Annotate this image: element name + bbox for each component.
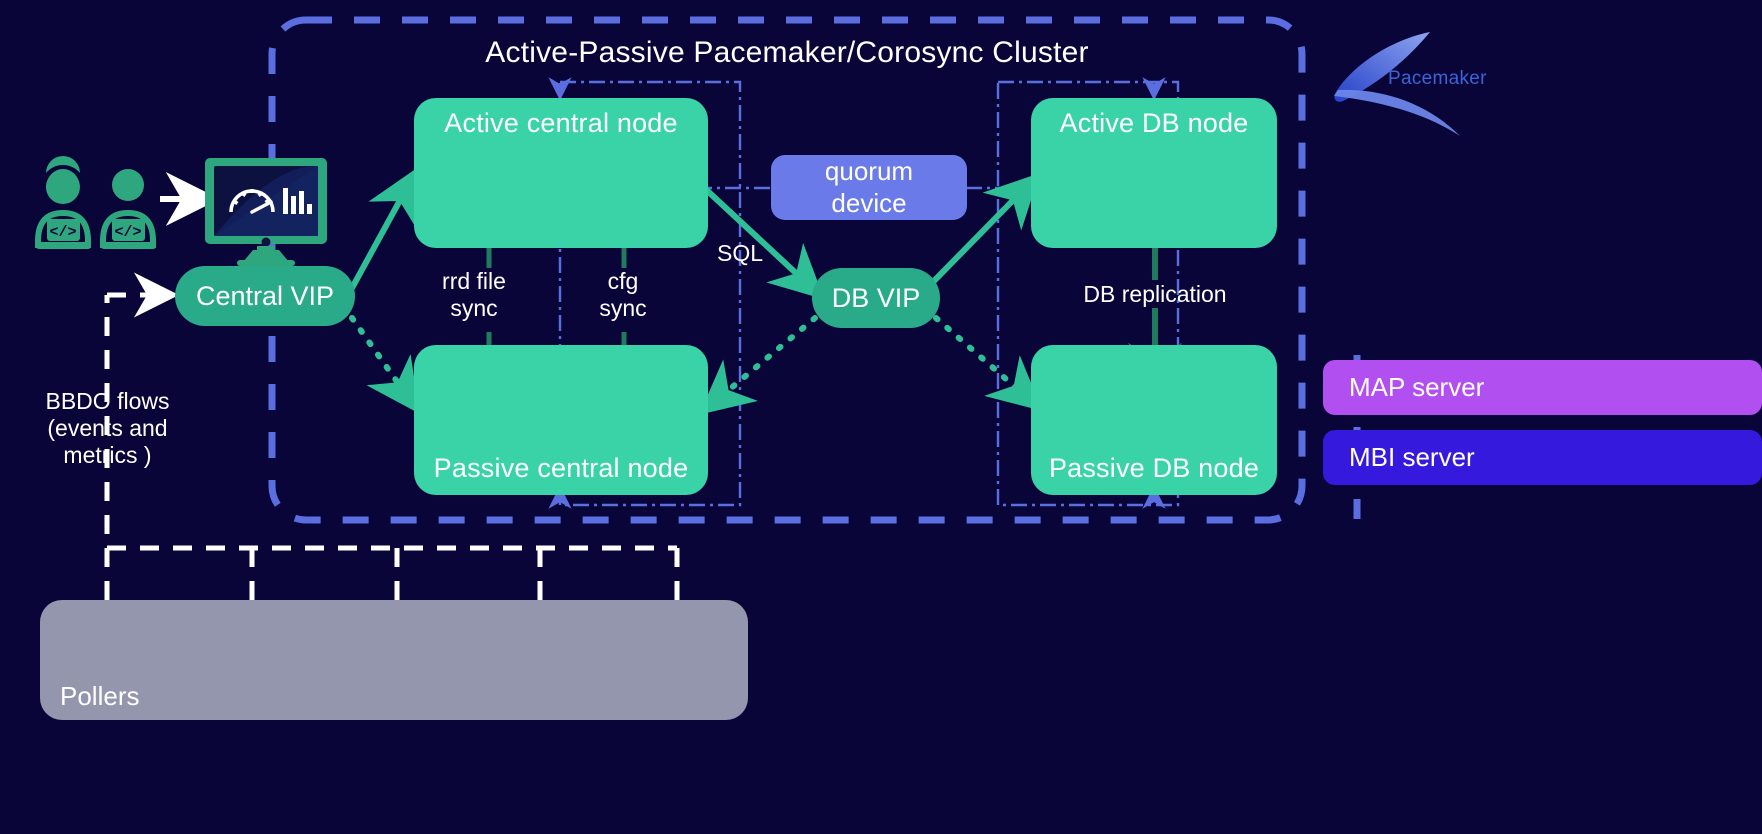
- db-vip-label: DB VIP: [832, 283, 921, 314]
- db-replication-label-text: DB replication: [1083, 281, 1226, 307]
- bbdo-flows-label: BBDO flows (events and metrics ): [10, 388, 205, 469]
- pollers-label: Pollers: [60, 681, 139, 712]
- rrd-sync-label-line2: sync: [414, 295, 534, 322]
- rrd-sync-label: rrd file sync: [414, 268, 534, 322]
- node-active-db-label: Active DB node: [1060, 109, 1249, 139]
- gauge-icon: [231, 189, 273, 212]
- node-passive-db[interactable]: Passive DB node: [1031, 345, 1277, 495]
- central-vip-to-active-arrow: [352, 182, 410, 288]
- pacemaker-logo: Pacemaker: [1382, 24, 1512, 94]
- node-passive-central[interactable]: Passive central node: [414, 345, 708, 495]
- db-vip-to-passive-db-arrow: [936, 318, 1030, 400]
- db-vip[interactable]: DB VIP: [812, 268, 940, 328]
- user-laptop-code-glyph-2: </>: [114, 224, 141, 241]
- user-laptop-code-icon: [36, 156, 91, 249]
- user-laptop-code-icon: [101, 169, 156, 249]
- svg-text:</>: </>: [114, 224, 141, 241]
- legend-map-server-label: MAP server: [1349, 372, 1484, 403]
- cluster-title-text: Active-Passive Pacemaker/Corosync Cluste…: [485, 36, 1088, 69]
- node-active-central-label: Active central node: [444, 109, 677, 139]
- cfg-sync-label: cfg sync: [563, 268, 683, 322]
- bbdo-flows-line2: (events and: [10, 415, 205, 442]
- node-active-central[interactable]: Active central node: [414, 98, 708, 248]
- db-replication-label: DB replication: [1040, 281, 1270, 308]
- cluster-title: Active-Passive Pacemaker/Corosync Cluste…: [272, 36, 1302, 70]
- rrd-sync-label-line1: rrd file: [414, 268, 534, 295]
- passive-central-to-db-vip-arrow: [712, 318, 815, 404]
- quorum-device[interactable]: quorum device: [771, 155, 967, 220]
- user-laptop-code-glyph-1: </>: [49, 224, 76, 241]
- sql-label: SQL: [700, 240, 780, 267]
- bbdo-flows-line3: metrics ): [10, 442, 205, 469]
- central-vip-to-passive-arrow: [352, 318, 410, 400]
- svg-text:</>: </>: [49, 224, 76, 241]
- architecture-diagram: </> </>: [0, 0, 1762, 834]
- cfg-sync-label-line1: cfg: [563, 268, 683, 295]
- bar-chart-icon: [283, 188, 312, 214]
- monitor-dashboard-icon: [205, 158, 327, 266]
- pacemaker-logo-text: Pacemaker: [1388, 68, 1487, 90]
- node-active-db[interactable]: Active DB node: [1031, 98, 1277, 248]
- legend-map-server[interactable]: MAP server: [1323, 360, 1762, 415]
- legend-mbi-server-label: MBI server: [1349, 442, 1475, 473]
- quorum-device-label-line2: device: [831, 188, 906, 220]
- cfg-sync-label-line2: sync: [563, 295, 683, 322]
- bbdo-flows-line1: BBDO flows: [10, 388, 205, 415]
- legend-mbi-server[interactable]: MBI server: [1323, 430, 1762, 485]
- central-vip-label: Central VIP: [196, 281, 334, 312]
- central-vip[interactable]: Central VIP: [175, 266, 355, 326]
- node-passive-db-label: Passive DB node: [1049, 454, 1259, 484]
- pollers-group[interactable]: Pollers: [40, 600, 748, 720]
- sql-label-text: SQL: [717, 240, 763, 266]
- node-passive-central-label: Passive central node: [434, 454, 689, 484]
- quorum-device-label-line1: quorum: [825, 156, 913, 188]
